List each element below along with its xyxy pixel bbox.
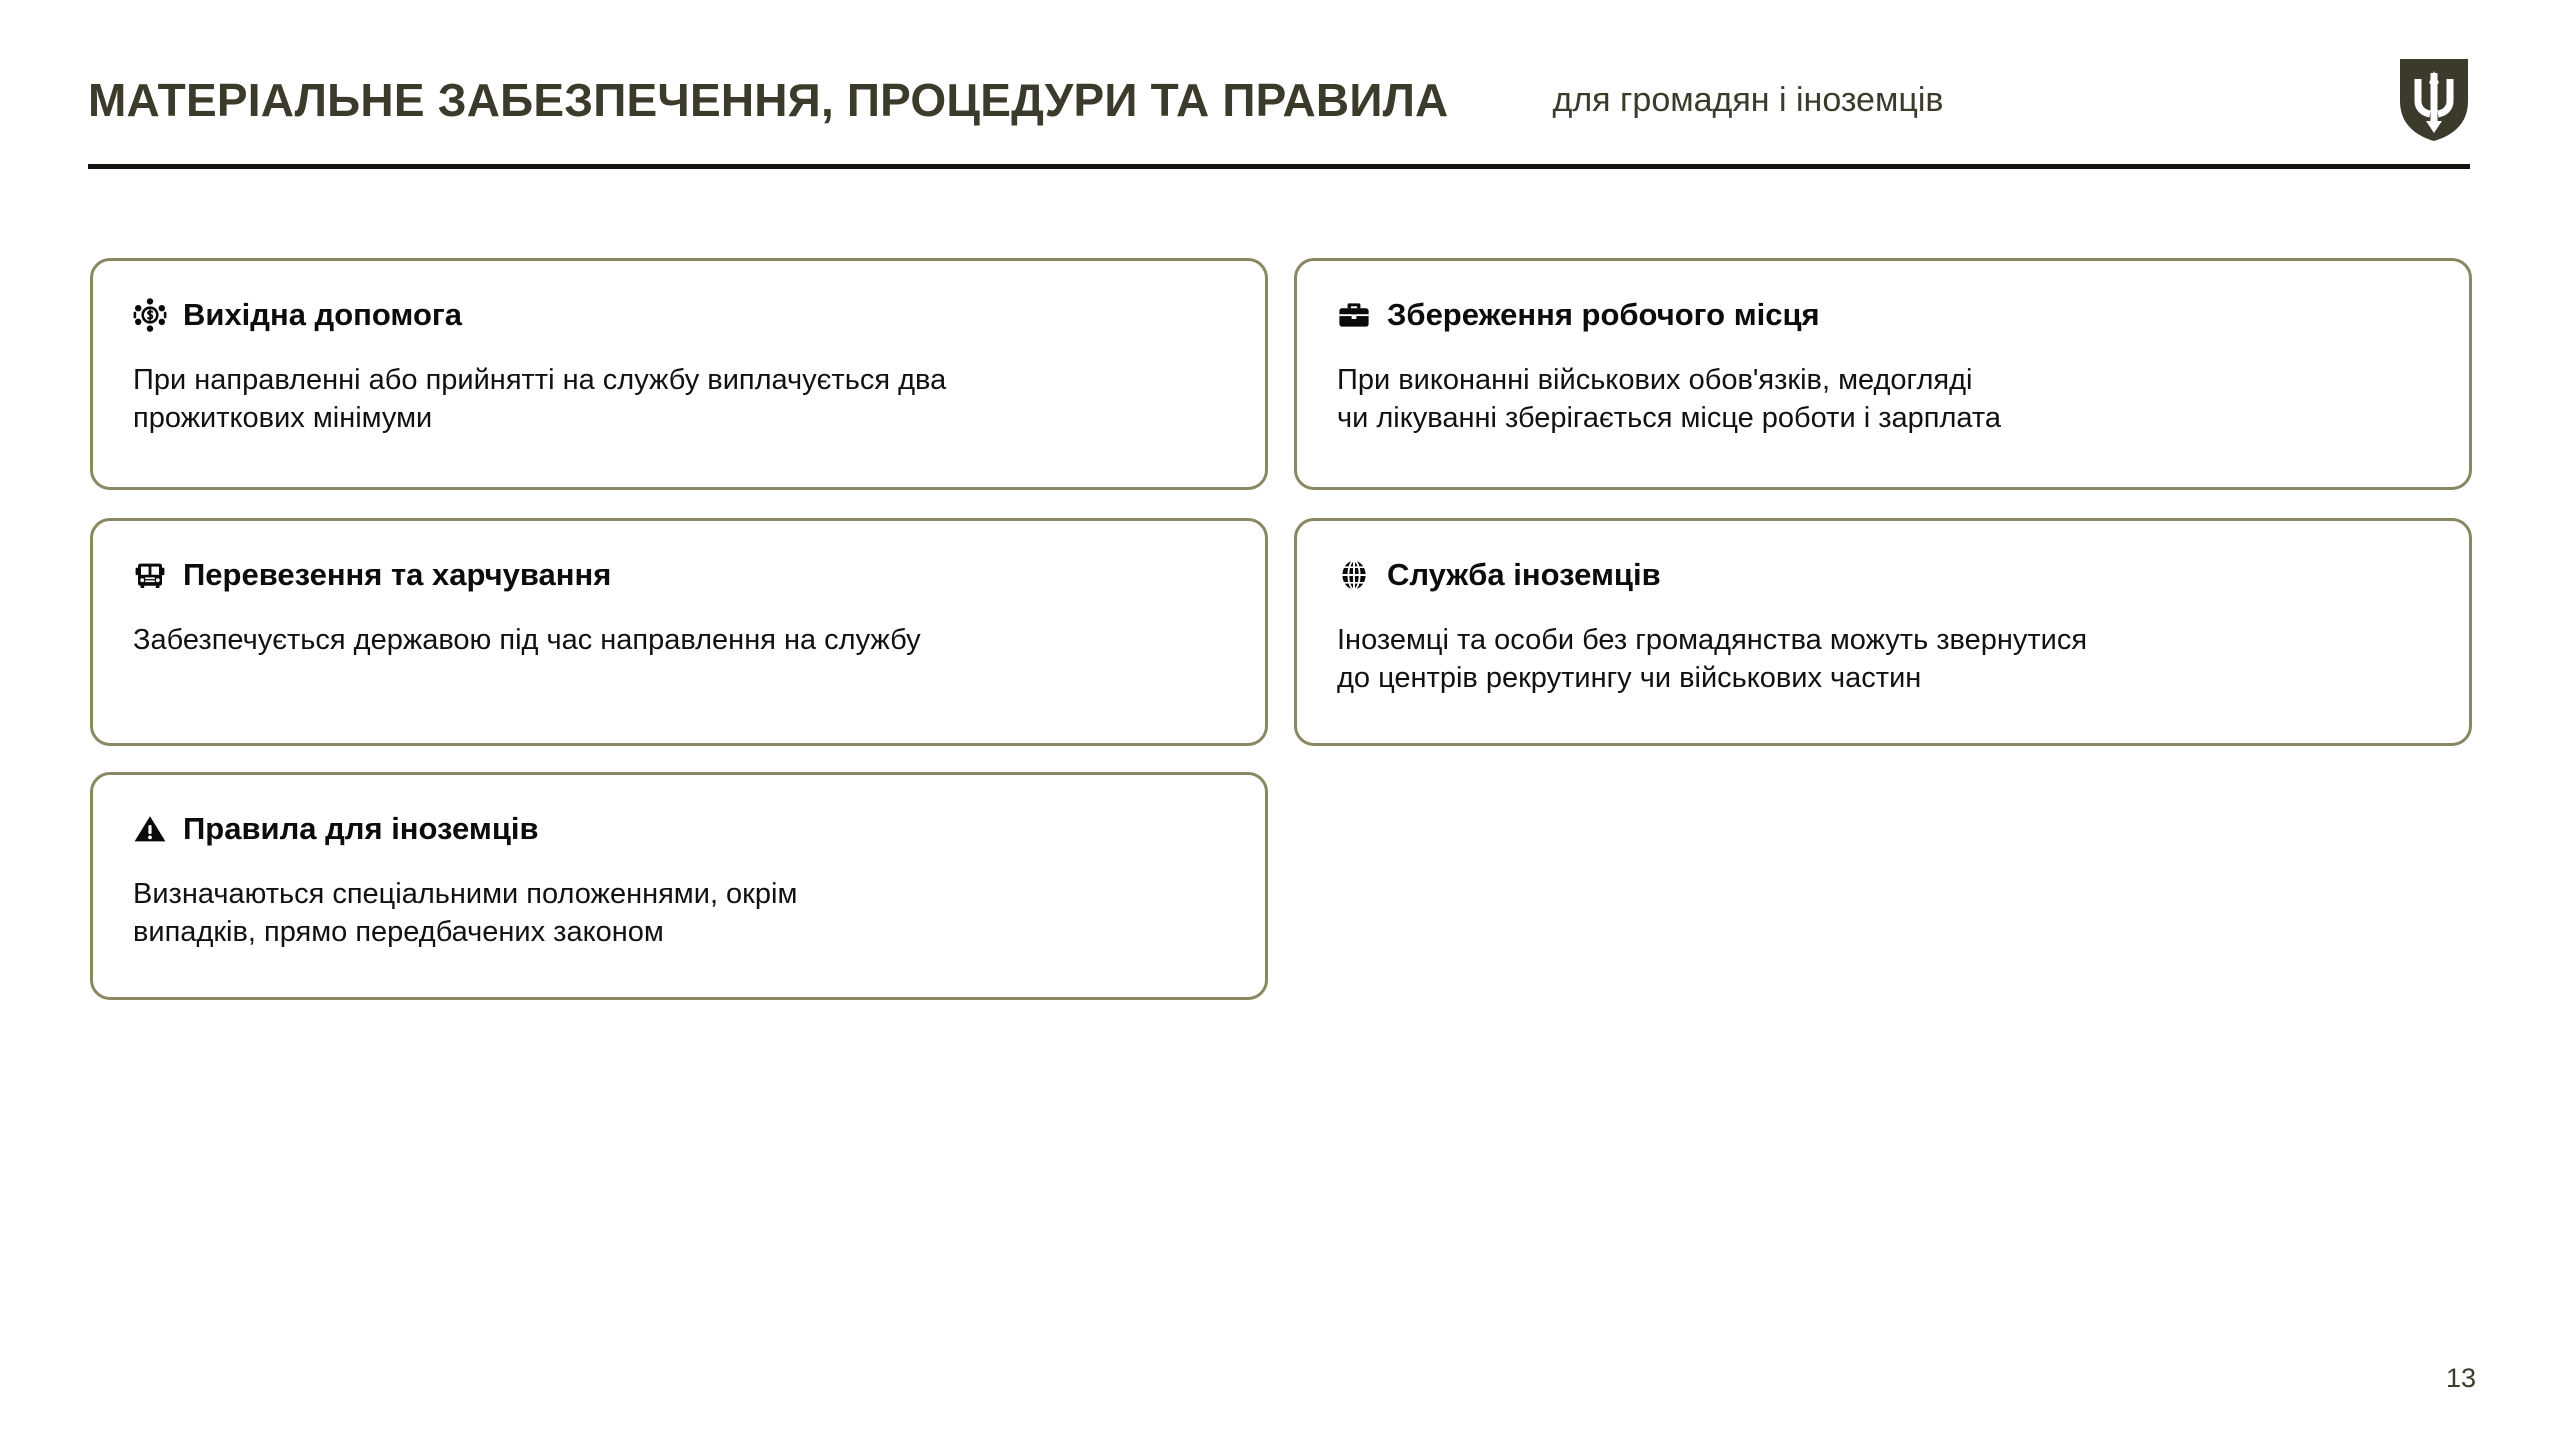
page-title: МАТЕРІАЛЬНЕ ЗАБЕЗПЕЧЕННЯ, ПРОЦЕДУРИ ТА П… — [88, 77, 1448, 123]
card-grid: Вихідна допомога При направленні або при… — [90, 258, 2472, 1000]
slide-header: МАТЕРІАЛЬНЕ ЗАБЕЗПЕЧЕННЯ, ПРОЦЕДУРИ ТА П… — [88, 52, 2470, 170]
card-body: При направленні або прийнятті на службу … — [133, 361, 1223, 438]
card-body: Іноземці та особи без громадянства можут… — [1337, 621, 2427, 698]
card-title: Вихідна допомога — [183, 298, 462, 332]
warning-triangle-icon — [133, 812, 167, 846]
info-card-zberezhennya-robochoho-mistsya[interactable]: Збереження робочого місця При виконанні … — [1294, 258, 2472, 490]
card-body: При виконанні військових обов'язків, мед… — [1337, 361, 2427, 438]
ukraine-trident-shield-icon — [2398, 57, 2470, 143]
card-title: Перевезення та харчування — [183, 558, 611, 592]
card-body: Визначаються спеціальними положеннями, о… — [133, 875, 1223, 952]
card-header: Збереження робочого місця — [1337, 295, 2427, 335]
card-body: Забезпечується державою під час направле… — [133, 621, 1223, 659]
briefcase-icon — [1337, 298, 1371, 332]
header-row: МАТЕРІАЛЬНЕ ЗАБЕЗПЕЧЕННЯ, ПРОЦЕДУРИ ТА П… — [88, 52, 2470, 148]
globe-icon — [1337, 558, 1371, 592]
card-header: Вихідна допомога — [133, 295, 1223, 335]
header-divider — [88, 164, 2470, 169]
card-header: Служба іноземців — [1337, 555, 2427, 595]
card-title: Служба іноземців — [1387, 558, 1661, 592]
info-card-perevezennya-ta-kharchuvannya[interactable]: Перевезення та харчування Забезпечується… — [90, 518, 1268, 746]
card-header: Перевезення та харчування — [133, 555, 1223, 595]
info-card-vyhidna-dopomoha[interactable]: Вихідна допомога При направленні або при… — [90, 258, 1268, 490]
page-subtitle: для громадян і іноземців — [1552, 83, 2374, 117]
card-header: Правила для іноземців — [133, 809, 1223, 849]
page-number: 13 — [2446, 1365, 2476, 1392]
bus-icon — [133, 558, 167, 592]
info-card-sluzhba-inozemtsiv[interactable]: Служба іноземців Іноземці та особи без г… — [1294, 518, 2472, 746]
card-title: Правила для іноземців — [183, 812, 539, 846]
card-title: Збереження робочого місця — [1387, 298, 1820, 332]
info-card-pravyla-dlya-inozemtsiv[interactable]: Правила для іноземців Визначаються спеці… — [90, 772, 1268, 1000]
coin-benefit-icon — [133, 298, 167, 332]
